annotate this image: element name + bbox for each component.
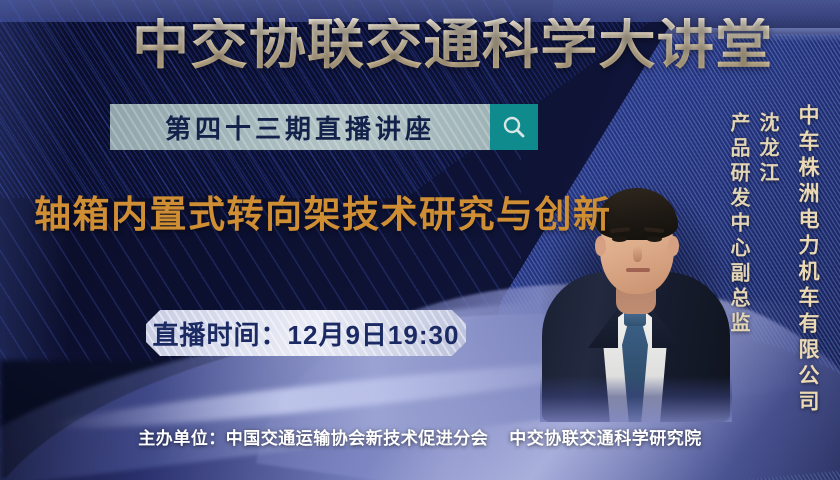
live-time-label: 直播时间：12月9日19:30 — [153, 315, 460, 352]
lecture-topic: 轴箱内置式转向架技术研究与创新 — [34, 196, 612, 233]
webinar-poster: 中交协联交通科学大讲堂 第四十三期直播讲座 轴箱内置式转向架技术研究与创新 直播… — [0, 0, 840, 480]
organizer-line: 主办单位：中国交通运输协会新技术促进分会 中交协联交通科学研究院 — [0, 424, 840, 449]
live-time-box: 直播时间：12月9日19:30 — [146, 310, 466, 356]
search-icon — [501, 114, 527, 140]
portrait-ear-right — [668, 236, 679, 256]
speaker-identity: 沈龙江 产品研发中心副总监 — [724, 112, 782, 337]
portrait-nose — [633, 246, 642, 262]
speaker-title: 产品研发中心副总监 — [727, 112, 749, 337]
portrait-ear-left — [595, 236, 606, 256]
portrait-eye-right — [647, 236, 662, 242]
subtitle-bar: 第四十三期直播讲座 — [110, 104, 538, 150]
speaker-portrait — [540, 104, 732, 422]
subtitle-plate: 第四十三期直播讲座 — [110, 104, 490, 150]
search-button[interactable] — [490, 104, 538, 150]
left-edge-glow — [0, 0, 70, 480]
speaker-name: 沈龙江 — [756, 112, 778, 187]
speaker-company: 中车株洲电力机车有限公司 — [792, 104, 822, 416]
subtitle-label: 第四十三期直播讲座 — [165, 109, 435, 146]
page-title: 中交协联交通科学大讲堂 — [132, 18, 773, 72]
portrait-eye-left — [612, 236, 627, 242]
portrait-mouth — [626, 268, 650, 272]
portrait-fade-mask — [540, 376, 732, 422]
